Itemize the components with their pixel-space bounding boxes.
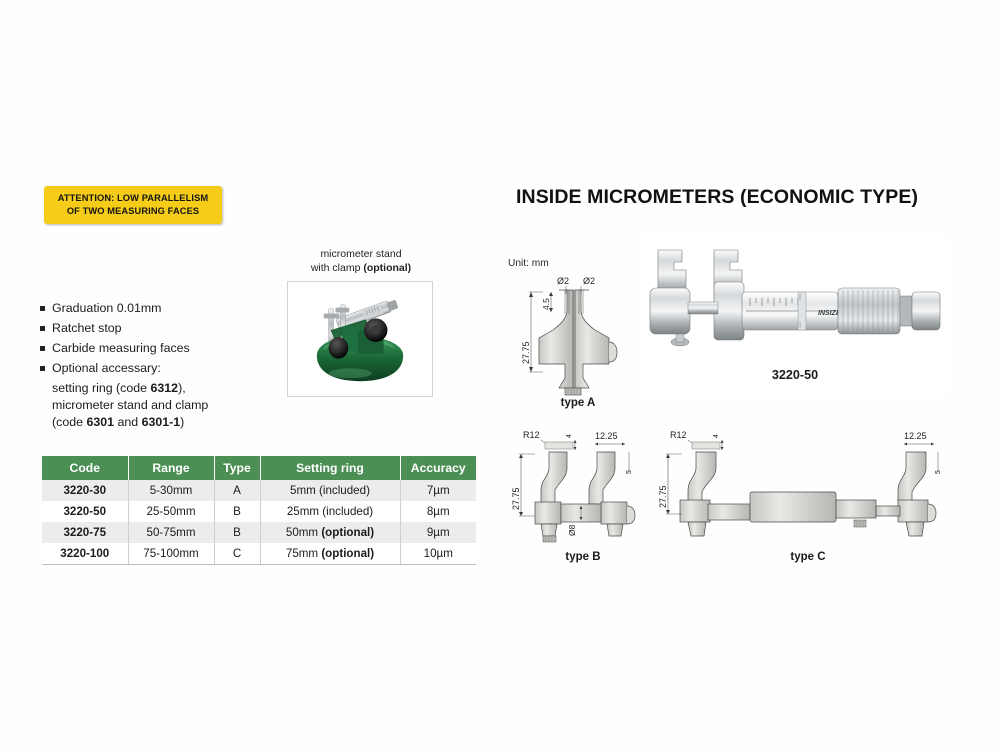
column-header-accuracy: Accuracy [400,456,476,480]
catalog-page: ATTENTION: LOW PARALLELISM OF TWO MEASUR… [0,0,1000,750]
attention-line-2: OF TWO MEASURING FACES [48,205,218,218]
cell-accuracy: 9µm [400,522,476,543]
stand-caption-line-1: micrometer stand [287,247,435,261]
bullet-square-icon [40,366,45,371]
stand-caption-line-2: with clamp (optional) [287,261,435,275]
feature-sub-stand-clamp: micrometer stand and clamp [52,397,290,414]
feature-label: Ratchet stop [52,320,122,337]
feature-sub-codes: (code 6301 and 6301-1) [52,414,290,431]
dim-tip-right-c: 5 [935,470,942,474]
dim-height-large: 27.75 [521,341,531,364]
product-code-label: 3220-50 [640,368,950,382]
cell-range: 75-100mm [128,543,214,565]
dim-height-c: 27.75 [658,485,668,508]
cell-setting-ring: 25mm (included) [260,501,400,522]
cell-setting-ring: 50mm (optional) [260,522,400,543]
table-row: 3220-30 5-30mm A 5mm (included) 7µm [42,480,476,501]
dim-tip-right-b: 5 [626,470,633,474]
page-title: INSIDE MICROMETERS (ECONOMIC TYPE) [516,186,918,209]
feature-label: Graduation 0.01mm [52,300,162,317]
table-row: 3220-50 25-50mm B 25mm (included) 8µm [42,501,476,522]
feature-item-optional: Optional accessary: [40,360,290,377]
bullet-square-icon [40,306,45,311]
stand-photo-frame [287,281,433,397]
feature-item-carbide: Carbide measuring faces [40,340,290,357]
column-header-code: Code [42,456,128,480]
diagram-caption-type-a: type A [561,397,596,409]
diagram-type-c: R12 4 12.25 5 27.75 type C [658,424,958,564]
cell-setting-ring: 5mm (included) [260,480,400,501]
dim-bore-right: Ø2 [583,276,595,286]
specification-table: Code Range Type Setting ring Accuracy 32… [42,456,476,565]
cell-setting-ring: 75mm (optional) [260,543,400,565]
cell-accuracy: 8µm [400,501,476,522]
dim-width-b: 12.25 [595,431,618,441]
diagram-type-a: Ø2 Ø2 4.5 27.75 type A [503,252,653,410]
dim-shaft-b: Ø8 [567,524,577,536]
dim-radius-c: R12 [670,430,687,440]
attention-line-1: ATTENTION: LOW PARALLELISM [48,192,218,205]
dim-radius-b: R12 [523,430,540,440]
feature-label: Optional accessary: [52,360,161,377]
code-6301-1: 6301-1 [142,415,181,429]
column-header-setting-ring: Setting ring [260,456,400,480]
cell-accuracy: 7µm [400,480,476,501]
column-header-range: Range [128,456,214,480]
dim-tip-left-c: 4 [713,434,720,438]
cell-type: B [214,522,260,543]
dim-tip-left-b: 4 [566,434,573,438]
cell-code: 3220-100 [42,543,128,565]
cell-range: 25-50mm [128,501,214,522]
cell-type: A [214,480,260,501]
cell-code: 3220-50 [42,501,128,522]
diagram-type-b: R12 4 12.25 5 27.75 Ø8 [505,424,655,564]
dim-height-b: 27.75 [511,487,521,510]
feature-item-graduation: Graduation 0.01mm [40,300,290,317]
feature-list: Graduation 0.01mm Ratchet stop Carbide m… [40,300,290,430]
cell-range: 50-75mm [128,522,214,543]
diagram-caption-type-c: type C [790,551,825,563]
stand-photo-image [293,287,427,391]
cell-type: B [214,501,260,522]
feature-sub-setting-ring: setting ring (code 6312), [52,380,290,397]
dim-width-c: 12.25 [904,431,927,441]
code-6301: 6301 [86,415,114,429]
cell-type: C [214,543,260,565]
table-row: 3220-75 50-75mm B 50mm (optional) 9µm [42,522,476,543]
column-header-type: Type [214,456,260,480]
diagram-caption-type-b: type B [565,551,600,563]
brand-label: INSIZE [818,310,841,317]
cell-code: 3220-30 [42,480,128,501]
cell-code: 3220-75 [42,522,128,543]
attention-banner: ATTENTION: LOW PARALLELISM OF TWO MEASUR… [44,186,222,224]
feature-item-ratchet: Ratchet stop [40,320,290,337]
dim-height-small: 4.5 [541,298,551,310]
bullet-square-icon [40,326,45,331]
stand-caption: micrometer stand with clamp (optional) [287,247,435,275]
code-6312: 6312 [151,381,179,395]
table-row: 3220-100 75-100mm C 75mm (optional) 10µm [42,543,476,565]
dim-bore-left: Ø2 [557,276,569,286]
table-header-row: Code Range Type Setting ring Accuracy [42,456,476,480]
optional-emphasis: (optional) [363,262,411,274]
micrometer-stand-block: micrometer stand with clamp (optional) [287,247,435,397]
cell-accuracy: 10µm [400,543,476,565]
cell-range: 5-30mm [128,480,214,501]
bullet-square-icon [40,346,45,351]
feature-label: Carbide measuring faces [52,340,190,357]
